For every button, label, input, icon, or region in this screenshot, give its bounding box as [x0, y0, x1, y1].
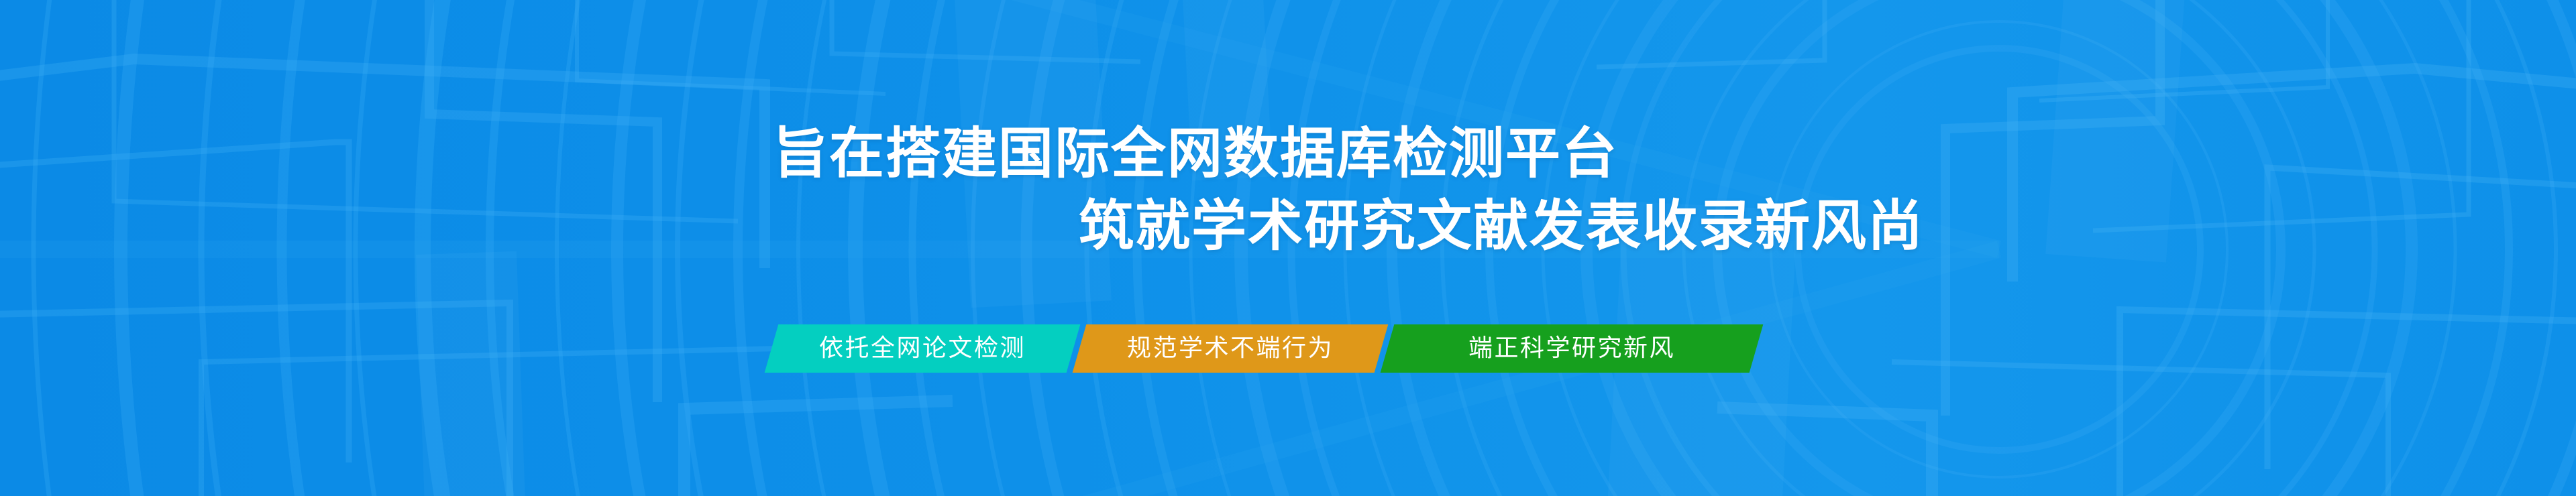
feature-badge-research-ethics[interactable]: 端正科学研究新风	[1381, 324, 1764, 373]
headline-line-1: 旨在搭建国际全网数据库检测平台	[0, 118, 2576, 190]
feature-badge-detection-label: 依托全网论文检测	[819, 336, 1026, 361]
hero-banner: 旨在搭建国际全网数据库检测平台 筑就学术研究文献发表收录新风尚 依托全网论文检测…	[0, 0, 2576, 496]
headline-line-2: 筑就学术研究文献发表收录新风尚	[0, 190, 2576, 263]
feature-badge-misconduct-label: 规范学术不端行为	[1127, 336, 1334, 361]
feature-badge-detection[interactable]: 依托全网论文检测	[765, 324, 1081, 373]
feature-badge-research-ethics-label: 端正科学研究新风	[1468, 336, 1675, 361]
feature-badge-row: 依托全网论文检测 规范学术不端行为 端正科学研究新风	[771, 324, 1756, 373]
banner-headline: 旨在搭建国际全网数据库检测平台 筑就学术研究文献发表收录新风尚	[0, 118, 2576, 263]
feature-badge-misconduct[interactable]: 规范学术不端行为	[1073, 324, 1389, 373]
